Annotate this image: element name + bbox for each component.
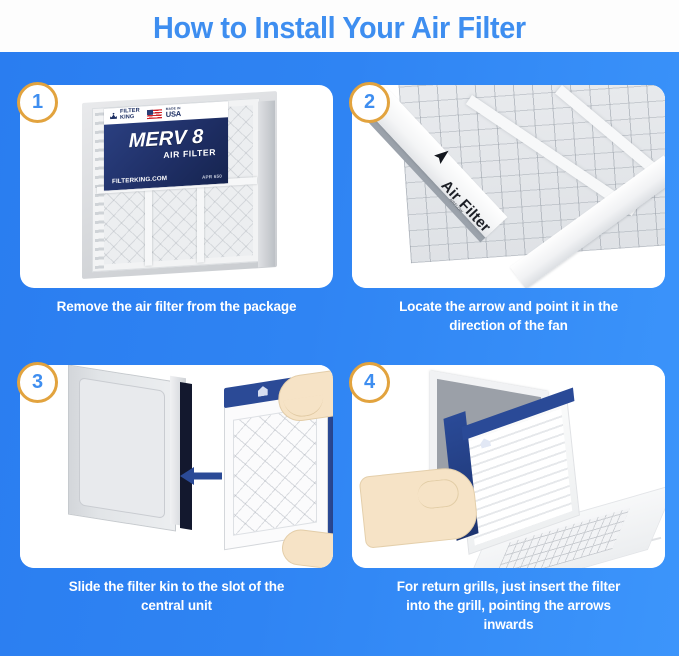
crown-lion-icon (109, 111, 118, 121)
page-title: How to Install Your Air Filter (153, 12, 526, 43)
replacement-filter-mesh (233, 407, 317, 536)
website-text: FILTERKING.COM (112, 175, 167, 185)
step-badge-4: 4 (349, 362, 390, 403)
central-unit-slot (68, 365, 176, 532)
header-band: How to Install Your Air Filter (0, 0, 679, 52)
airflow-direction-arrow-icon (429, 146, 451, 168)
step-4-image-card (352, 365, 665, 568)
step-caption-3: Slide the filter kin to the slot of the … (20, 577, 333, 615)
brand-name: FILTER KING (120, 109, 140, 121)
step-card-4: 4 (352, 365, 665, 568)
brand-lockup: FILTER KING (109, 109, 140, 122)
step-2-image-card: Air Filter AIRFLOW (352, 85, 665, 288)
filter-label-body: MERV 8 AIR FILTER FILTERKING.COM APR 650 (104, 117, 228, 191)
unit-dark-edge (180, 382, 192, 530)
filter-right-edge (258, 100, 275, 267)
step-badge-2: 2 (349, 82, 390, 123)
infographic-page: How to Install Your Air Filter (0, 0, 679, 656)
closeup-inner: Air Filter AIRFLOW (352, 85, 665, 288)
country-text: USA (166, 110, 181, 118)
step-caption-2: Locate the arrow and point it in the dir… (352, 297, 665, 335)
step-caption-2-line1: Locate the arrow and point it in the (352, 297, 665, 316)
hand-lower (280, 527, 333, 568)
filter-label-footer: FILTERKING.COM APR 650 (112, 172, 222, 186)
step-caption-4-line2: into the grill, pointing the arrows (352, 596, 665, 615)
step-caption-3-line2: central unit (20, 596, 333, 615)
hand-inserting-filter (359, 465, 480, 549)
step-card-2: Air Filter AIRFLOW 2 (352, 85, 665, 288)
insert-direction-arrow-icon (180, 465, 222, 487)
step-1-image-card: FILTER KING MADE IN USA MERV 8 (20, 85, 333, 288)
filter-label: FILTER KING MADE IN USA MERV 8 (104, 101, 228, 191)
step-caption-4-line3: inwards (352, 615, 665, 634)
step-badge-1: 1 (17, 82, 58, 123)
step-caption-4: For return grills, just insert the filte… (352, 577, 665, 634)
step-caption-2-line2: direction of the fan (352, 316, 665, 335)
apr-rating: APR 650 (202, 174, 222, 180)
made-in-usa-block: MADE IN USA (166, 107, 181, 119)
step-card-1: FILTER KING MADE IN USA MERV 8 (20, 85, 333, 288)
step-badge-3: 3 (17, 362, 58, 403)
step-caption-3-line1: Slide the filter kin to the slot of the (20, 577, 333, 596)
step-caption-1: Remove the air filter from the package (20, 297, 333, 316)
usa-flag-icon (147, 109, 162, 119)
slide-into-unit-illustration (20, 365, 333, 568)
unit-slot-opening (79, 377, 165, 519)
step-card-3: 3 (20, 365, 333, 568)
air-filter-product-photo: FILTER KING MADE IN USA MERV 8 (82, 97, 277, 273)
steps-grid: FILTER KING MADE IN USA MERV 8 (0, 52, 679, 656)
step-caption-4-line1: For return grills, just insert the filte… (352, 577, 665, 596)
filter-corner-closeup: Air Filter AIRFLOW (352, 85, 665, 288)
return-grill-illustration (352, 365, 665, 568)
filter-brand-mark-icon (258, 383, 280, 396)
step-3-image-card (20, 365, 333, 568)
